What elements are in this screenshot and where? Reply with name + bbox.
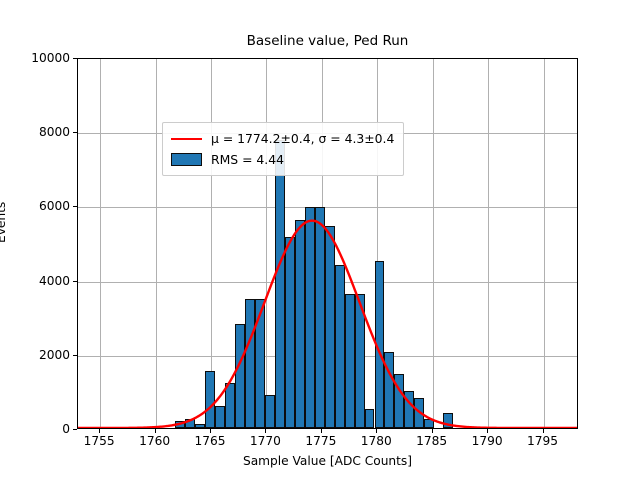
chart-figure: Baseline value, Ped Run Events Sample Va…: [0, 0, 640, 480]
legend-patch-icon: [171, 153, 202, 166]
x-tick-label: 1790: [472, 434, 503, 448]
y-tick-label: 10000: [8, 51, 70, 65]
x-tick-mark: [210, 429, 211, 433]
x-axis-label: Sample Value [ADC Counts]: [77, 454, 578, 468]
y-tick-label: 8000: [8, 125, 70, 139]
x-tick-mark: [432, 429, 433, 433]
x-tick-label: 1795: [527, 434, 558, 448]
x-tick-mark: [265, 429, 266, 433]
x-tick-label: 1775: [305, 434, 336, 448]
legend-item-rms: RMS = 4.44: [171, 149, 394, 170]
y-tick-mark: [73, 429, 77, 430]
x-tick-label: 1755: [84, 434, 115, 448]
x-tick-mark: [543, 429, 544, 433]
x-tick-mark: [376, 429, 377, 433]
y-tick-label: 6000: [8, 199, 70, 213]
chart-title: Baseline value, Ped Run: [77, 33, 578, 49]
x-tick-mark: [99, 429, 100, 433]
x-tick-label: 1770: [250, 434, 281, 448]
x-tick-mark: [321, 429, 322, 433]
x-tick-mark: [487, 429, 488, 433]
y-axis-label: Events: [0, 202, 8, 243]
plot-area: μ = 1774.2±0.4, σ = 4.3±0.4 RMS = 4.44: [77, 58, 578, 429]
gaussian-fit-curve: [78, 59, 577, 428]
y-tick-label: 0: [8, 422, 70, 436]
x-tick-mark: [155, 429, 156, 433]
y-tick-label: 4000: [8, 274, 70, 288]
x-tick-label: 1760: [139, 434, 170, 448]
y-tick-label: 2000: [8, 348, 70, 362]
legend-label-fit: μ = 1774.2±0.4, σ = 4.3±0.4: [211, 131, 394, 146]
x-tick-label: 1785: [416, 434, 447, 448]
x-tick-label: 1780: [361, 434, 392, 448]
chart-legend: μ = 1774.2±0.4, σ = 4.3±0.4 RMS = 4.44: [162, 122, 404, 176]
x-tick-label: 1765: [194, 434, 225, 448]
legend-line-icon: [171, 138, 202, 140]
legend-item-fit: μ = 1774.2±0.4, σ = 4.3±0.4: [171, 128, 394, 149]
legend-label-rms: RMS = 4.44: [211, 152, 284, 167]
